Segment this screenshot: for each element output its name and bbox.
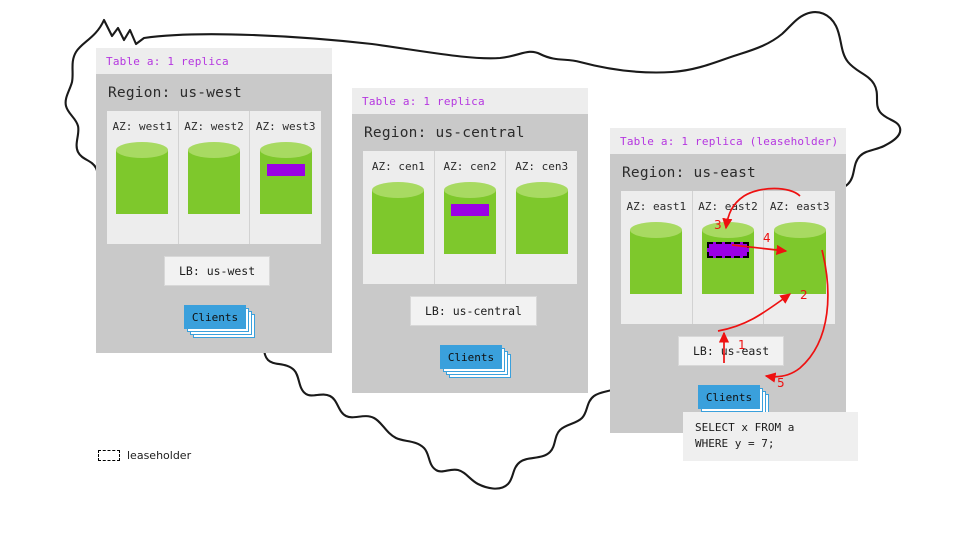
- legend: leaseholder: [98, 449, 191, 462]
- cylinder-top: [630, 222, 682, 238]
- cylinder-top: [116, 142, 168, 158]
- replica-range-box: [451, 204, 489, 216]
- replica-cylinder-wrap: [435, 182, 506, 274]
- cylinder-top: [702, 222, 754, 238]
- cylinder-top: [372, 182, 424, 198]
- replica-cylinder-wrap: [107, 142, 178, 234]
- region-body: Region: us-east AZ: east1 AZ: east2: [610, 154, 846, 433]
- az-cell-east1[interactable]: AZ: east1: [621, 191, 693, 324]
- replica-cylinder[interactable]: [260, 142, 312, 222]
- replica-cylinder-wrap: [506, 182, 577, 274]
- cylinder-bottom: [116, 198, 168, 214]
- az-label: AZ: east2: [693, 200, 764, 213]
- cylinder-bottom: [702, 278, 754, 294]
- az-cell-west2[interactable]: AZ: west2: [179, 111, 251, 244]
- replica-cylinder[interactable]: [702, 222, 754, 302]
- replica-cylinder-wrap: [693, 222, 764, 314]
- region-body: Region: us-central AZ: cen1 AZ: cen2: [352, 114, 588, 393]
- az-row: AZ: west1 AZ: west2: [107, 111, 321, 244]
- az-row: AZ: cen1 AZ: cen2: [363, 151, 577, 284]
- cylinder-bottom: [444, 238, 496, 254]
- az-label: AZ: west2: [179, 120, 250, 133]
- cylinder-bottom: [372, 238, 424, 254]
- cylinder-bottom: [188, 198, 240, 214]
- cylinder-bottom: [260, 198, 312, 214]
- cylinder-top: [516, 182, 568, 198]
- az-label: AZ: cen1: [363, 160, 434, 173]
- arrow-label-4: 4: [763, 231, 771, 245]
- az-label: AZ: cen3: [506, 160, 577, 173]
- arrow-label-1: 1: [738, 338, 746, 352]
- region-panel-us-east: Table a: 1 replica (leaseholder) Region:…: [610, 128, 846, 433]
- clients-label: Clients: [184, 305, 246, 329]
- az-cell-cen1[interactable]: AZ: cen1: [363, 151, 435, 284]
- arrow-label-3: 3: [714, 218, 722, 232]
- replica-cylinder[interactable]: [630, 222, 682, 302]
- region-panel-us-west: Table a: 1 replica Region: us-west AZ: w…: [96, 48, 332, 353]
- legend-label: leaseholder: [127, 449, 191, 462]
- arrow-label-2: 2: [800, 288, 808, 302]
- clients-box-us-west[interactable]: Clients: [184, 305, 246, 329]
- region-table-header: Table a: 1 replica: [352, 88, 588, 114]
- cylinder-top: [774, 222, 826, 238]
- region-panel-us-central: Table a: 1 replica Region: us-central AZ…: [352, 88, 588, 393]
- cylinder-bottom: [516, 238, 568, 254]
- cylinder-top: [188, 142, 240, 158]
- az-label: AZ: cen2: [435, 160, 506, 173]
- replica-cylinder[interactable]: [372, 182, 424, 262]
- az-row: AZ: east1 AZ: east2: [621, 191, 835, 324]
- cylinder-bottom: [630, 278, 682, 294]
- az-cell-cen2[interactable]: AZ: cen2: [435, 151, 507, 284]
- az-cell-west1[interactable]: AZ: west1: [107, 111, 179, 244]
- az-label: AZ: west3: [250, 120, 321, 133]
- diagram-canvas: Table a: 1 replica Region: us-west AZ: w…: [0, 0, 960, 540]
- replica-cylinder-wrap: [363, 182, 434, 274]
- leaseholder-box: [707, 242, 749, 258]
- replica-cylinder[interactable]: [116, 142, 168, 222]
- clients-label: Clients: [440, 345, 502, 369]
- az-label: AZ: west1: [107, 120, 178, 133]
- region-table-header: Table a: 1 replica (leaseholder): [610, 128, 846, 154]
- load-balancer-box-us-west[interactable]: LB: us-west: [164, 256, 270, 286]
- arrow-label-5: 5: [777, 376, 785, 390]
- load-balancer-box-us-central[interactable]: LB: us-central: [410, 296, 537, 326]
- dashed-rect-swatch: [98, 450, 120, 461]
- az-cell-cen3[interactable]: AZ: cen3: [506, 151, 577, 284]
- replica-cylinder[interactable]: [188, 142, 240, 222]
- replica-cylinder-wrap: [621, 222, 692, 314]
- sql-query-box: SELECT x FROM a WHERE y = 7;: [683, 412, 858, 461]
- az-label: AZ: east1: [621, 200, 692, 213]
- replica-cylinder-wrap: [250, 142, 321, 234]
- cylinder-top: [444, 182, 496, 198]
- az-cell-east3[interactable]: AZ: east3: [764, 191, 835, 324]
- replica-cylinder-wrap: [179, 142, 250, 234]
- region-table-header: Table a: 1 replica: [96, 48, 332, 74]
- replica-cylinder[interactable]: [444, 182, 496, 262]
- load-balancer-box-us-east[interactable]: LB: us-east: [678, 336, 784, 366]
- clients-label: Clients: [698, 385, 760, 409]
- cylinder-top: [260, 142, 312, 158]
- az-cell-east2[interactable]: AZ: east2: [693, 191, 765, 324]
- az-cell-west3[interactable]: AZ: west3: [250, 111, 321, 244]
- region-title: Region: us-west: [96, 74, 332, 111]
- region-title: Region: us-central: [352, 114, 588, 151]
- clients-box-us-east[interactable]: Clients: [698, 385, 760, 409]
- clients-box-us-central[interactable]: Clients: [440, 345, 502, 369]
- replica-range-box: [267, 164, 305, 176]
- region-title: Region: us-east: [610, 154, 846, 191]
- replica-cylinder[interactable]: [516, 182, 568, 262]
- region-body: Region: us-west AZ: west1 AZ: west2: [96, 74, 332, 353]
- az-label: AZ: east3: [764, 200, 835, 213]
